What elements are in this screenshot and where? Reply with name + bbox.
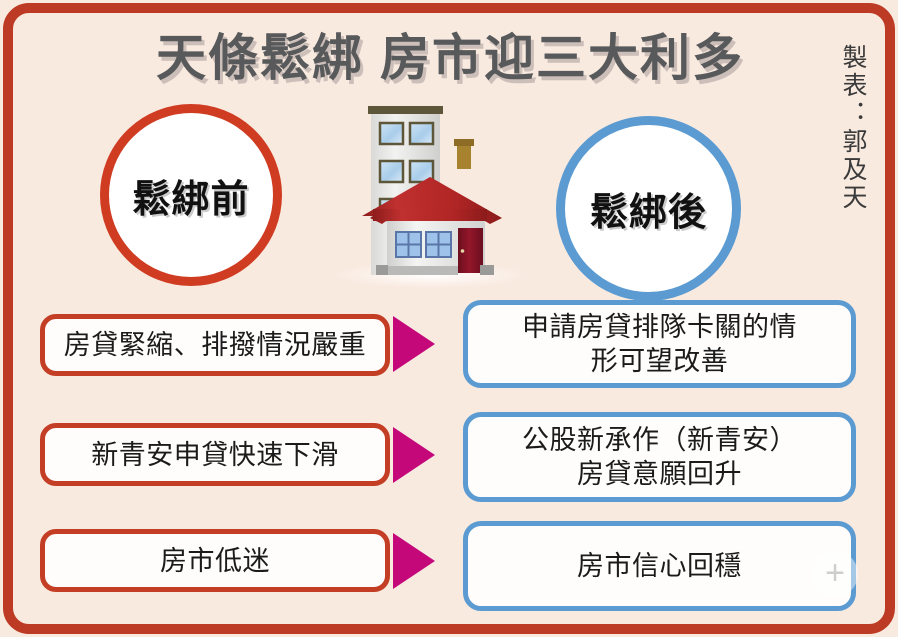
before-box-2[interactable]: 新青安申貸快速下滑	[40, 423, 390, 486]
after-circle-label: 鬆綁後	[590, 181, 707, 236]
page-title: 天條鬆綁 房市迎三大利多	[120, 28, 780, 88]
before-box-1[interactable]: 房貸緊縮、排撥情況嚴重	[40, 314, 390, 376]
before-box-3-label: 房市低迷	[160, 544, 270, 578]
after-circle: 鬆綁後	[556, 116, 741, 301]
after-box-2-label: 公股新承作（新青安） 房貸意願回升	[522, 423, 797, 491]
right-arrow-icon	[393, 316, 435, 372]
before-box-3[interactable]: 房市低迷	[40, 529, 390, 592]
before-box-1-label: 房貸緊縮、排撥情況嚴重	[64, 328, 367, 362]
before-circle-label: 鬆綁前	[132, 168, 249, 223]
after-box-3[interactable]: 房市信心回穩	[463, 521, 856, 611]
after-box-1-label: 申請房貸排隊卡關的情 形可望改善	[522, 310, 797, 378]
after-box-2[interactable]: 公股新承作（新青安） 房貸意願回升	[463, 412, 856, 502]
house-illustration	[330, 85, 535, 290]
before-circle: 鬆綁前	[100, 104, 282, 286]
right-arrow-icon	[393, 427, 435, 483]
after-box-3-label: 房市信心回穩	[577, 549, 742, 583]
before-box-2-label: 新青安申貸快速下滑	[91, 438, 339, 472]
infographic-canvas: 天條鬆綁 房市迎三大利多 製表：郭及天 鬆綁前 鬆綁後	[0, 0, 898, 637]
right-arrow-icon	[393, 533, 435, 589]
after-box-1[interactable]: 申請房貸排隊卡關的情 形可望改善	[463, 300, 856, 388]
credit-byline: 製表：郭及天	[836, 44, 870, 259]
